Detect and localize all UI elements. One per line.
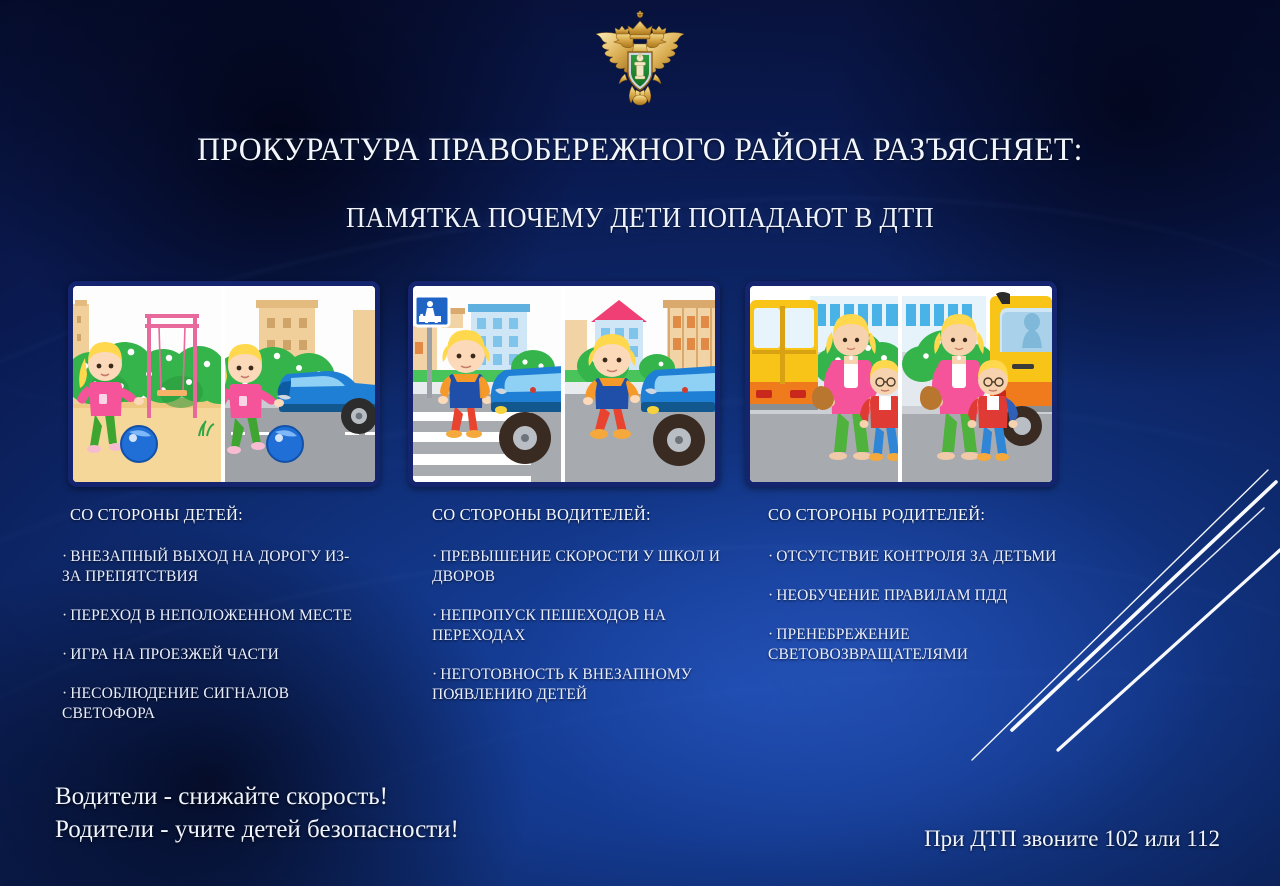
bullet-icon: · (62, 685, 67, 702)
slogan-drivers: Водители - снижайте скорость! (55, 780, 459, 813)
bullet-icon: · (768, 626, 773, 643)
bullet-icon: · (768, 587, 773, 604)
footer-slogans: Водители - снижайте скорость! Родители -… (55, 780, 459, 846)
list-item-text: ИГРА НА ПРОЕЗЖЕЙ ЧАСТИ (70, 646, 279, 663)
bullet-icon: · (62, 548, 67, 565)
list-item: ·ПРЕВЫШЕНИЕ СКОРОСТИ У ШКОЛ И ДВОРОВ (432, 547, 732, 587)
list-item: ·НЕПРОПУСК ПЕШЕХОДОВ НА ПЕРЕХОДАХ (432, 606, 732, 646)
panel-parents-bus-stop (745, 281, 1057, 487)
emergency-phone-line: При ДТП звоните 102 или 112 (924, 826, 1220, 852)
list-item-text: ПЕРЕХОД В НЕПОЛОЖЕННОМ МЕСТЕ (70, 607, 352, 624)
list-item: ·ОТСУТСТВИЕ КОНТРОЛЯ ЗА ДЕТЬМИ (768, 547, 1068, 567)
list-item-text: ОТСУТСТВИЕ КОНТРОЛЯ ЗА ДЕТЬМИ (776, 548, 1056, 565)
list-item: ·ВНЕЗАПНЫЙ ВЫХОД НА ДОРОГУ ИЗ-ЗА ПРЕПЯТС… (62, 547, 362, 587)
list-item: ·НЕОБУЧЕНИЕ ПРАВИЛАМ ПДД (768, 586, 1068, 606)
illustration-panels (0, 281, 1280, 487)
column-parents: СО СТОРОНЫ РОДИТЕЛЕЙ: ·ОТСУТСТВИЕ КОНТРО… (768, 505, 1068, 684)
page-title: ПРОКУРАТУРА ПРАВОБЕРЕЖНОГО РАЙОНА РАЗЪЯС… (26, 132, 1255, 169)
panel-children-playground-ball (68, 281, 380, 487)
list-item: ·ПЕРЕХОД В НЕПОЛОЖЕННОМ МЕСТЕ (62, 606, 362, 626)
bullet-icon: · (62, 607, 67, 624)
list-item-text: ПРЕВЫШЕНИЕ СКОРОСТИ У ШКОЛ И ДВОРОВ (432, 548, 720, 585)
list-item-text: НЕОБУЧЕНИЕ ПРАВИЛАМ ПДД (776, 587, 1007, 604)
bullet-icon: · (62, 646, 67, 663)
panel-crosswalk-boy-car (408, 281, 720, 487)
list-item-text: НЕСОБЛЮДЕНИЕ СИГНАЛОВ СВЕТОФОРА (62, 685, 289, 722)
column-heading-children: СО СТОРОНЫ ДЕТЕЙ: (62, 505, 362, 525)
page-subtitle: ПАМЯТКА ПОЧЕМУ ДЕТИ ПОПАДАЮТ В ДТП (32, 203, 1248, 235)
bullet-icon: · (432, 548, 437, 565)
column-drivers: СО СТОРОНЫ ВОДИТЕЛЕЙ: ·ПРЕВЫШЕНИЕ СКОРОС… (432, 505, 732, 724)
slogan-parents: Родители - учите детей безопасности! (55, 813, 459, 846)
emblem-container (0, 8, 1280, 112)
list-item: ·ПРЕНЕБРЕЖЕНИЕ СВЕТОВОЗВРАЩАТЕЛЯМИ (768, 625, 1068, 665)
column-heading-drivers: СО СТОРОНЫ ВОДИТЕЛЕЙ: (432, 505, 732, 525)
list-item-text: ВНЕЗАПНЫЙ ВЫХОД НА ДОРОГУ ИЗ-ЗА ПРЕПЯТСТ… (62, 548, 349, 585)
list-item: ·НЕГОТОВНОСТЬ К ВНЕЗАПНОМУ ПОЯВЛЕНИЮ ДЕТ… (432, 665, 732, 705)
russian-prosecutor-office-emblem-icon (588, 8, 692, 112)
column-heading-parents: СО СТОРОНЫ РОДИТЕЛЕЙ: (768, 505, 1068, 525)
bullet-icon: · (768, 548, 773, 565)
list-item-text: НЕГОТОВНОСТЬ К ВНЕЗАПНОМУ ПОЯВЛЕНИЮ ДЕТЕ… (432, 666, 692, 703)
list-item: ·НЕСОБЛЮДЕНИЕ СИГНАЛОВ СВЕТОФОРА (62, 684, 362, 724)
column-children: СО СТОРОНЫ ДЕТЕЙ: ·ВНЕЗАПНЫЙ ВЫХОД НА ДО… (62, 505, 362, 743)
bullet-icon: · (432, 607, 437, 624)
list-item-text: ПРЕНЕБРЕЖЕНИЕ СВЕТОВОЗВРАЩАТЕЛЯМИ (768, 626, 968, 663)
bullet-icon: · (432, 666, 437, 683)
list-item: ·ИГРА НА ПРОЕЗЖЕЙ ЧАСТИ (62, 645, 362, 665)
list-item-text: НЕПРОПУСК ПЕШЕХОДОВ НА ПЕРЕХОДАХ (432, 607, 666, 644)
